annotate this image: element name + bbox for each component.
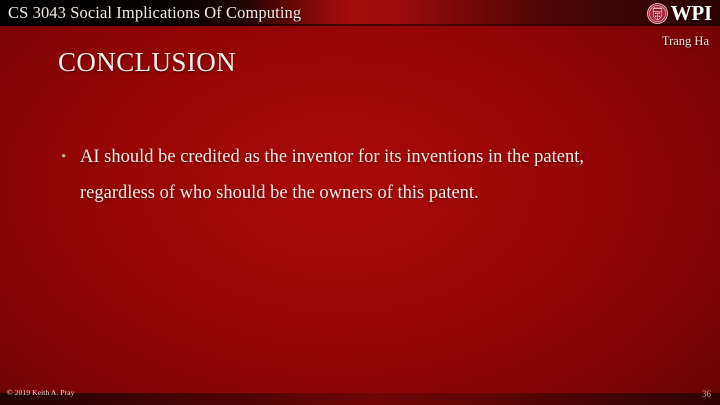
copyright-notice: © 2019 Keith A. Pray [7, 388, 75, 398]
bullet-item: • AI should be credited as the inventor … [58, 139, 658, 211]
footer-band [0, 393, 720, 405]
course-title: CS 3043 Social Implications Of Computing [8, 2, 301, 24]
bullet-point-icon: • [58, 139, 80, 175]
slide-body: • AI should be credited as the inventor … [58, 139, 658, 211]
presenter-name: Trang Ha [662, 34, 709, 49]
wpi-logo: WPI [647, 1, 712, 25]
bullet-text: AI should be credited as the inventor fo… [80, 139, 658, 211]
slide-header-bar: CS 3043 Social Implications Of Computing [0, 0, 720, 26]
slide-title: CONCLUSION [58, 46, 236, 78]
wpi-seal-icon [647, 3, 668, 24]
page-number: 36 [702, 389, 711, 400]
wpi-wordmark: WPI [671, 3, 712, 24]
presentation-slide: CS 3043 Social Implications Of Computing [0, 0, 720, 405]
